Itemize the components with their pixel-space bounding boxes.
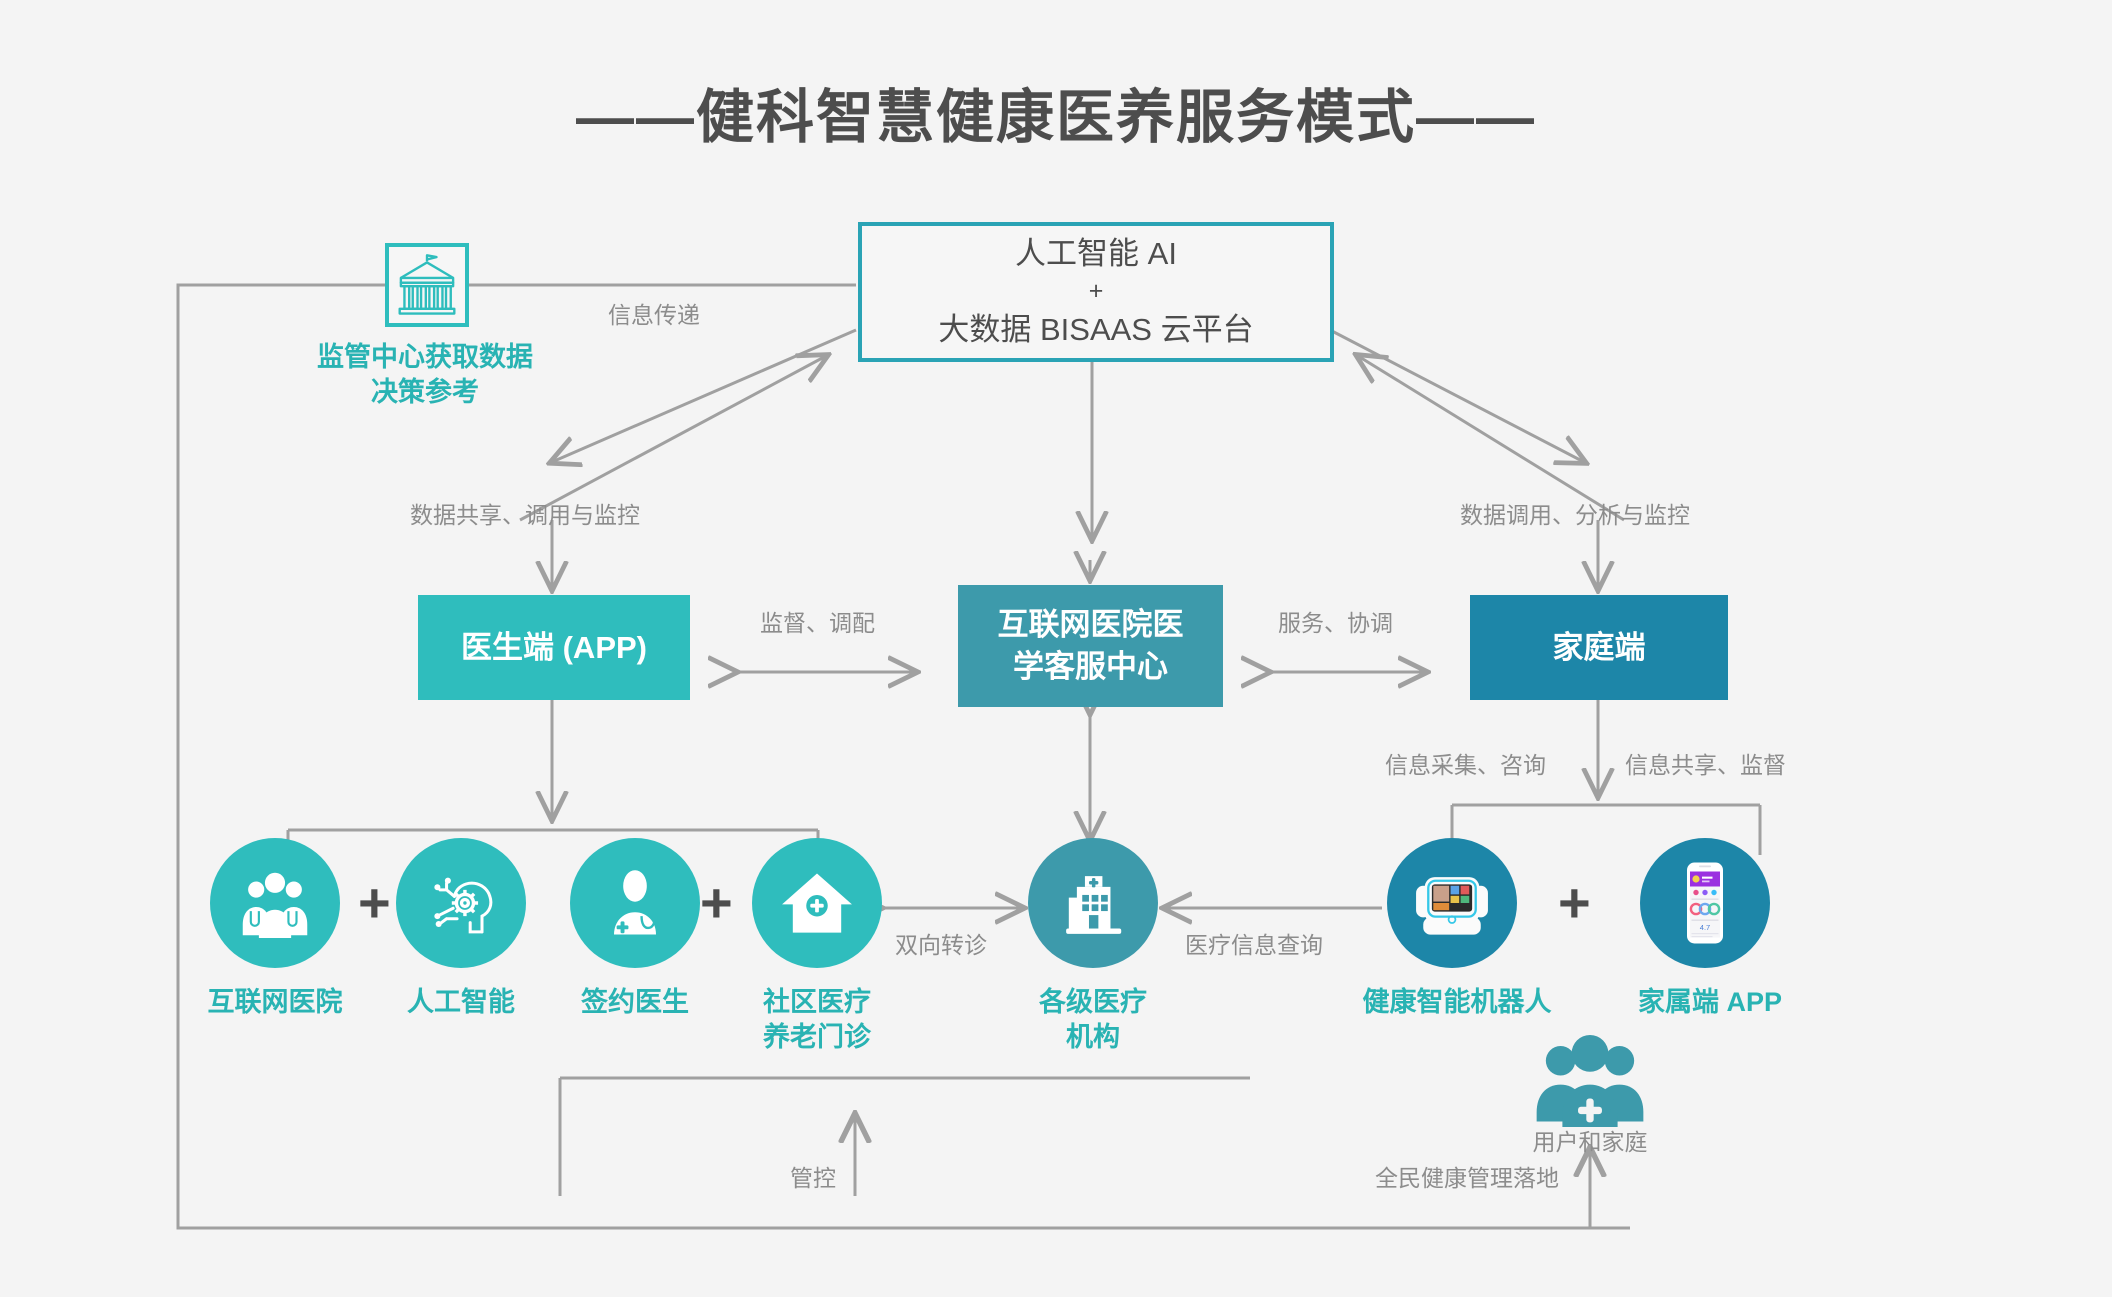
- edge-medical-info-query: 医疗信息查询: [1185, 930, 1323, 961]
- doctor-app-box[interactable]: 医生端 (APP): [418, 595, 690, 700]
- community-clinic-label: 社区医疗 养老门诊: [742, 985, 892, 1055]
- edge-two-way-referral: 双向转诊: [895, 930, 987, 961]
- users-and-family-label: 用户和家庭: [1510, 1128, 1670, 1158]
- edge-supervise-allocate: 监督、调配: [760, 608, 875, 639]
- platform-line2: +: [938, 275, 1253, 309]
- edge-national-health: 全民健康管理落地: [1375, 1163, 1559, 1194]
- platform-line1: 人工智能 AI: [938, 233, 1253, 275]
- clinic-house-icon[interactable]: [752, 838, 882, 968]
- edge-info-transfer: 信息传递: [608, 300, 700, 331]
- internet-hospital-label: 互联网医院: [190, 985, 360, 1020]
- edge-control: 管控: [790, 1163, 836, 1194]
- medical-institutions-label: 各级医疗 机构: [1023, 985, 1163, 1055]
- supervision-label-line2: 决策参考: [371, 377, 479, 407]
- family-client-box[interactable]: 家庭端: [1470, 595, 1728, 700]
- smartphone-app-icon[interactable]: 4.7: [1640, 838, 1770, 968]
- edge-data-call: 数据调用、分析与监控: [1460, 500, 1690, 531]
- diagram-canvas: ——健科智慧健康医养服务模式——: [0, 0, 2112, 1297]
- doctors-group-icon[interactable]: [210, 838, 340, 968]
- edge-data-share: 数据共享、调用与监控: [410, 500, 640, 531]
- family-app-label: 家属端 APP: [1625, 985, 1795, 1020]
- plus-operator-2: +: [700, 875, 733, 931]
- medical-service-center-box[interactable]: 互联网医院医 学客服中心: [958, 585, 1223, 707]
- edge-info-collect: 信息采集、咨询: [1385, 750, 1546, 781]
- community-clinic-line2: 养老门诊: [763, 1022, 871, 1052]
- community-clinic-line1: 社区医疗: [763, 987, 871, 1017]
- artificial-intelligence-label: 人工智能: [396, 985, 526, 1020]
- center-label-line2: 学客服中心: [998, 646, 1184, 688]
- users-group-plus-icon: [1530, 1035, 1650, 1125]
- government-building-icon: [385, 243, 469, 327]
- plus-operator-3: +: [1558, 875, 1591, 931]
- ai-bigdata-platform-box[interactable]: 人工智能 AI + 大数据 BISAAS 云平台: [858, 222, 1334, 362]
- health-robot-icon[interactable]: [1387, 838, 1517, 968]
- doctor-stethoscope-icon[interactable]: [570, 838, 700, 968]
- page-title: ——健科智慧健康医养服务模式——: [0, 70, 2112, 154]
- doctor-app-label: 医生端 (APP): [461, 627, 647, 669]
- family-client-label: 家庭端: [1553, 627, 1646, 669]
- health-robot-label: 健康智能机器人: [1357, 985, 1557, 1020]
- supervision-label-line1: 监管中心获取数据: [317, 342, 533, 372]
- supervision-center-label: 监管中心获取数据 决策参考: [275, 340, 575, 410]
- contracted-doctor-label: 签约医生: [570, 985, 700, 1020]
- platform-line3: 大数据 BISAAS 云平台: [938, 309, 1253, 351]
- medical-institutions-line1: 各级医疗: [1039, 987, 1147, 1017]
- medical-institutions-line2: 机构: [1066, 1022, 1120, 1052]
- hospital-building-icon[interactable]: [1028, 838, 1158, 968]
- edge-service-coordinate: 服务、协调: [1278, 608, 1393, 639]
- ai-brain-gear-icon[interactable]: [396, 838, 526, 968]
- svg-text:4.7: 4.7: [1700, 923, 1710, 932]
- center-label-line1: 互联网医院医: [998, 604, 1184, 646]
- edge-info-share: 信息共享、监督: [1625, 750, 1786, 781]
- plus-operator-1: +: [358, 875, 391, 931]
